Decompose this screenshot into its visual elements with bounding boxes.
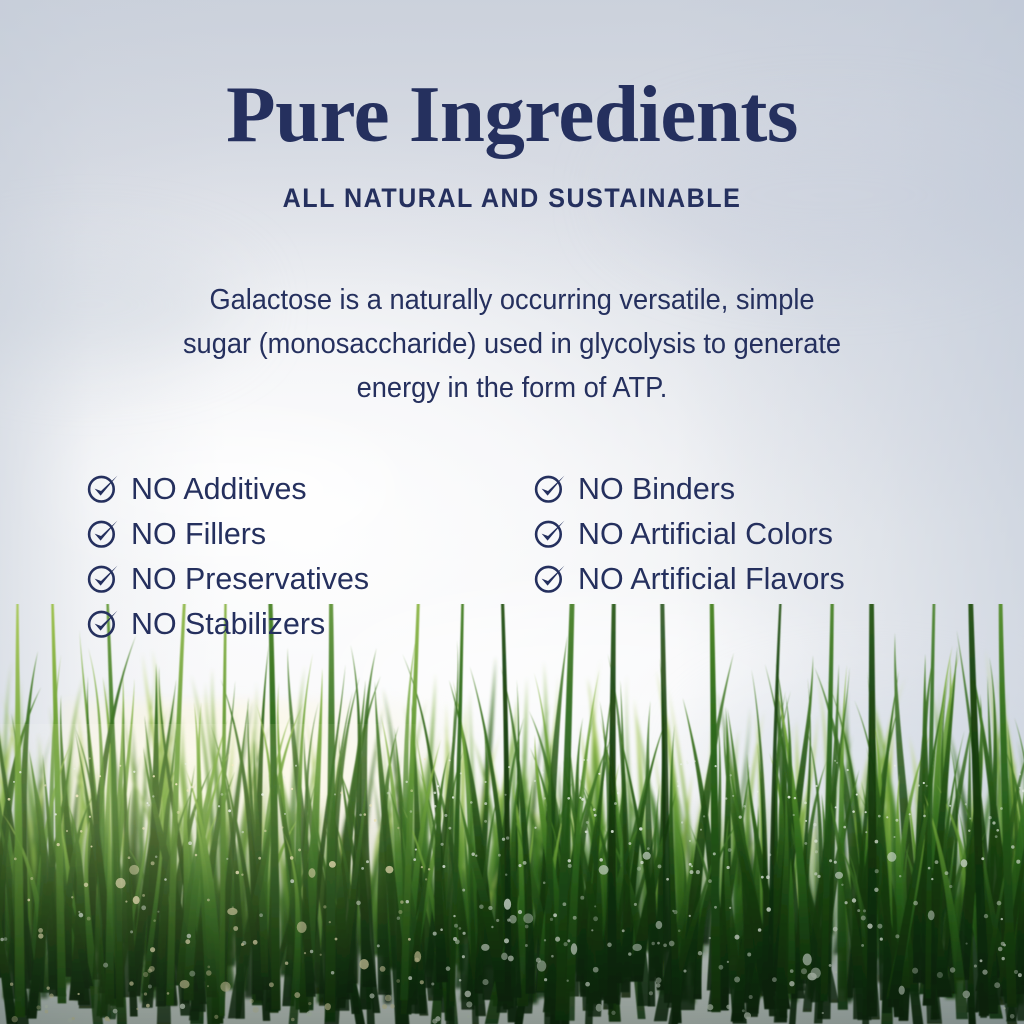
list-item: NO Binders — [533, 466, 986, 511]
list-item-label: NO Fillers — [131, 517, 266, 551]
list-item-label: NO Binders — [578, 472, 735, 506]
check-circle-icon — [533, 516, 567, 550]
poster-canvas: Pure Ingredients ALL NATURAL AND SUSTAIN… — [0, 0, 1024, 1024]
check-circle-icon — [533, 471, 567, 505]
list-item-label: NO Stabilizers — [131, 607, 325, 641]
description-line-3: energy in the form of ATP. — [120, 366, 903, 410]
list-item-label: NO Additives — [131, 472, 307, 506]
check-circle-icon — [86, 561, 120, 595]
list-item: NO Additives — [86, 466, 533, 511]
list-item-label: NO Preservatives — [131, 562, 369, 596]
list-item: NO Stabilizers — [86, 601, 533, 646]
page-title: Pure Ingredients — [0, 74, 1024, 155]
ingredient-claims-list: NO Additives NO Fillers NO Preservatives — [86, 466, 986, 646]
page-subtitle: ALL NATURAL AND SUSTAINABLE — [36, 183, 988, 214]
list-item-label: NO Artificial Colors — [578, 517, 833, 551]
list-item: NO Artificial Colors — [533, 511, 986, 556]
description-paragraph: Galactose is a naturally occurring versa… — [120, 278, 903, 410]
check-circle-icon — [86, 516, 120, 550]
poster-content: Pure Ingredients ALL NATURAL AND SUSTAIN… — [0, 0, 1024, 1024]
check-circle-icon — [86, 606, 120, 640]
description-line-2: sugar (monosaccharide) used in glycolysi… — [120, 322, 903, 366]
claims-column-right: NO Binders NO Artificial Colors NO Artif… — [533, 466, 986, 646]
list-item: NO Fillers — [86, 511, 533, 556]
check-circle-icon — [533, 561, 567, 595]
check-circle-icon — [86, 471, 120, 505]
list-item: NO Artificial Flavors — [533, 556, 986, 601]
list-item-label: NO Artificial Flavors — [578, 562, 845, 596]
list-item: NO Preservatives — [86, 556, 533, 601]
description-line-1: Galactose is a naturally occurring versa… — [120, 278, 903, 322]
claims-column-left: NO Additives NO Fillers NO Preservatives — [86, 466, 533, 646]
